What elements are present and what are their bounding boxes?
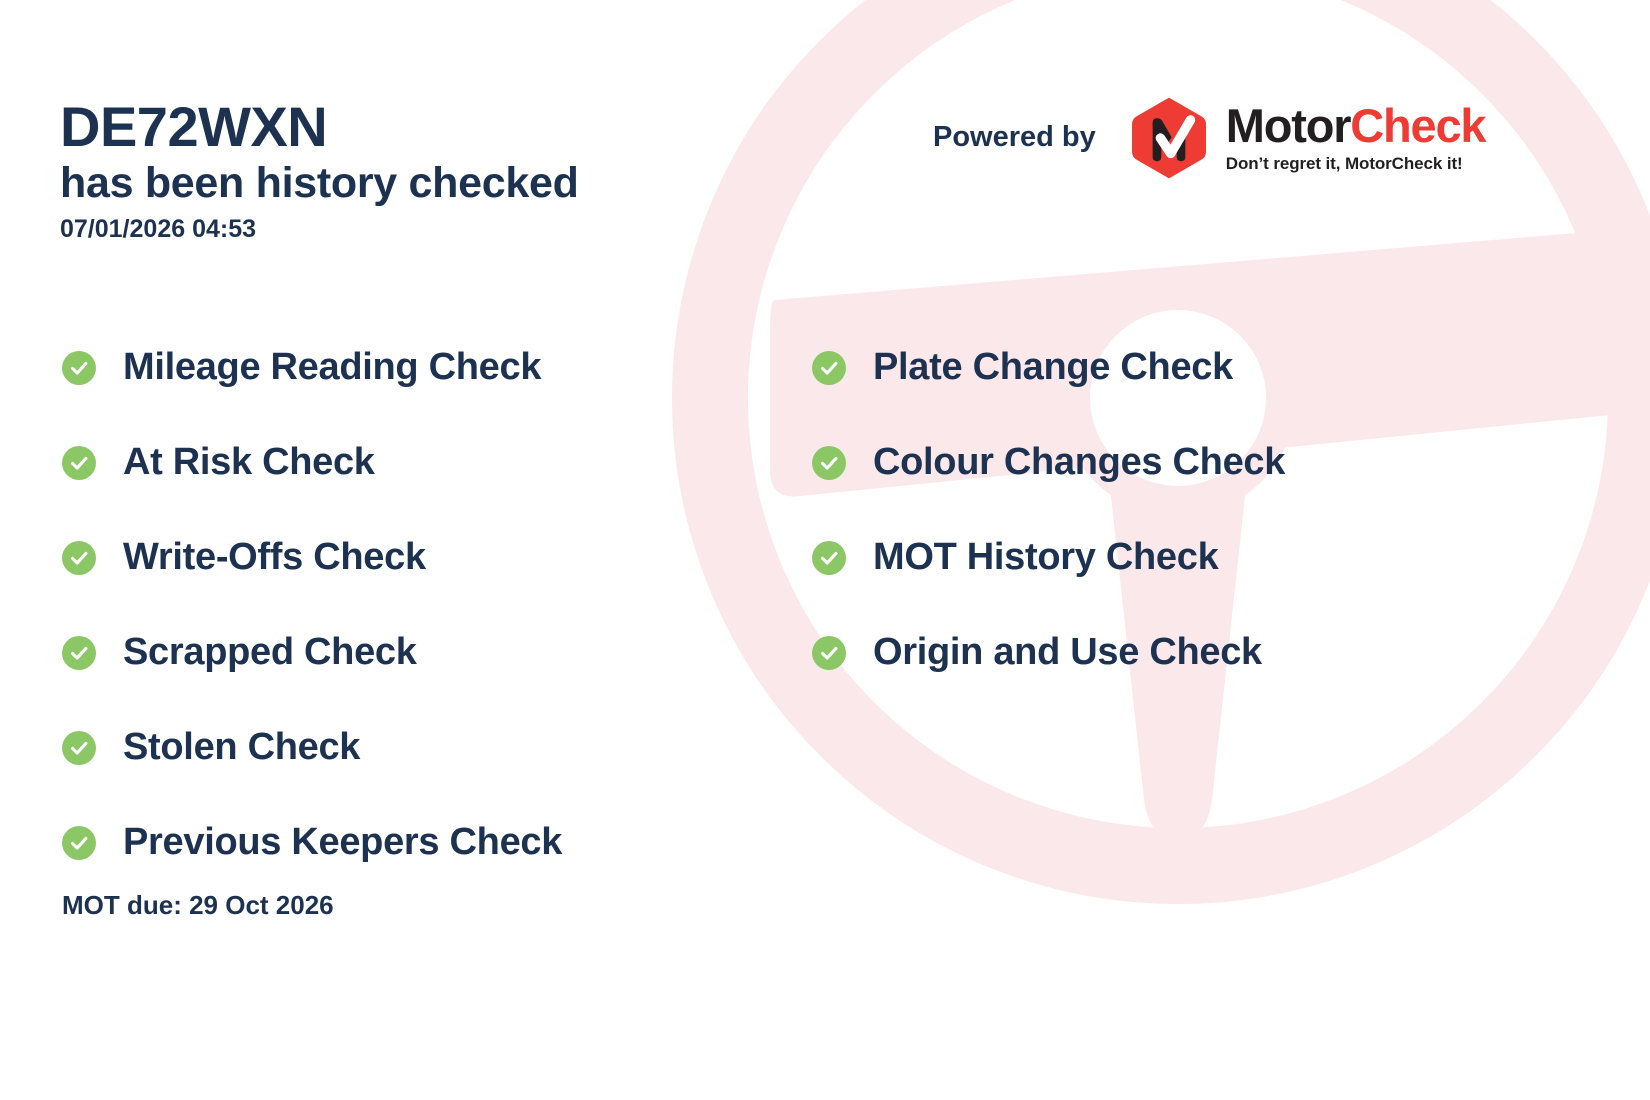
- check-circle-icon: [62, 446, 96, 480]
- check-circle-icon: [62, 541, 96, 575]
- brand-tagline: Don’t regret it, MotorCheck it!: [1226, 154, 1486, 174]
- mot-due-text: MOT due: 29 Oct 2026: [62, 890, 334, 921]
- page-title: has been history checked: [60, 158, 579, 209]
- wordmark-motor: Motor: [1226, 99, 1351, 152]
- checks-left-column: Mileage Reading Check At Risk Check Writ…: [62, 320, 562, 890]
- list-item: Origin and Use Check: [812, 605, 1285, 700]
- list-item: Mileage Reading Check: [62, 320, 562, 415]
- check-timestamp: 07/01/2026 04:53: [60, 215, 579, 244]
- list-item: Colour Changes Check: [812, 415, 1285, 510]
- check-circle-icon: [812, 636, 846, 670]
- check-circle-icon: [62, 636, 96, 670]
- vehicle-header: DE72WXN has been history checked 07/01/2…: [60, 97, 579, 244]
- list-item: Previous Keepers Check: [62, 795, 562, 890]
- powered-by-block: Powered by MotorCheck Don’t regret: [933, 95, 1485, 180]
- check-circle-icon: [62, 731, 96, 765]
- list-item: Write-Offs Check: [62, 510, 562, 605]
- check-label: At Risk Check: [123, 441, 375, 484]
- list-item: Plate Change Check: [812, 320, 1285, 415]
- check-label: Plate Change Check: [873, 346, 1233, 389]
- check-circle-icon: [62, 351, 96, 385]
- history-check-banner: DE72WXN has been history checked 07/01/2…: [0, 0, 1650, 1100]
- check-label: Write-Offs Check: [123, 536, 426, 579]
- list-item: Scrapped Check: [62, 605, 562, 700]
- check-label: MOT History Check: [873, 536, 1218, 579]
- check-label: Colour Changes Check: [873, 441, 1285, 484]
- list-item: MOT History Check: [812, 510, 1285, 605]
- check-label: Mileage Reading Check: [123, 346, 541, 389]
- wordmark-check: Check: [1350, 99, 1485, 152]
- registration-plate: DE72WXN: [60, 97, 579, 156]
- check-circle-icon: [62, 826, 96, 860]
- powered-by-label: Powered by: [933, 121, 1096, 154]
- check-circle-icon: [812, 351, 846, 385]
- list-item: At Risk Check: [62, 415, 562, 510]
- list-item: Stolen Check: [62, 700, 562, 795]
- check-circle-icon: [812, 446, 846, 480]
- checks-right-column: Plate Change Check Colour Changes Check …: [812, 320, 1285, 700]
- check-label: Stolen Check: [123, 726, 360, 769]
- motorcheck-wordmark: MotorCheck Don’t regret it, MotorCheck i…: [1226, 102, 1486, 174]
- check-label: Previous Keepers Check: [123, 821, 562, 864]
- check-circle-icon: [812, 541, 846, 575]
- check-label: Scrapped Check: [123, 631, 417, 674]
- motorcheck-logo-icon: [1126, 95, 1212, 181]
- check-label: Origin and Use Check: [873, 631, 1262, 674]
